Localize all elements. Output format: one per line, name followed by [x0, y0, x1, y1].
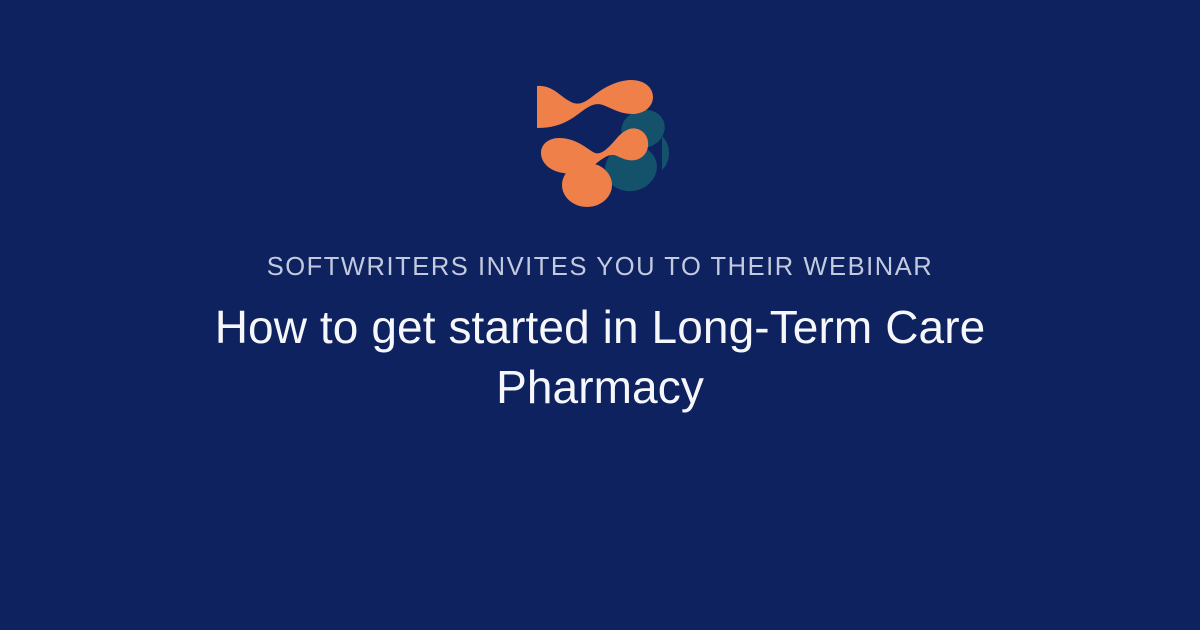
page-title: How to get started in Long-Term Care Pha…: [170, 297, 1030, 417]
eyebrow-text: SOFTWRITERS INVITES YOU TO THEIR WEBINAR: [80, 252, 1120, 283]
hero-text-block: SOFTWRITERS INVITES YOU TO THEIR WEBINAR…: [80, 252, 1120, 417]
logo-container: [0, 74, 1200, 208]
softwriters-logo-icon: [529, 74, 671, 208]
webinar-promo-card: SOFTWRITERS INVITES YOU TO THEIR WEBINAR…: [0, 0, 1200, 630]
